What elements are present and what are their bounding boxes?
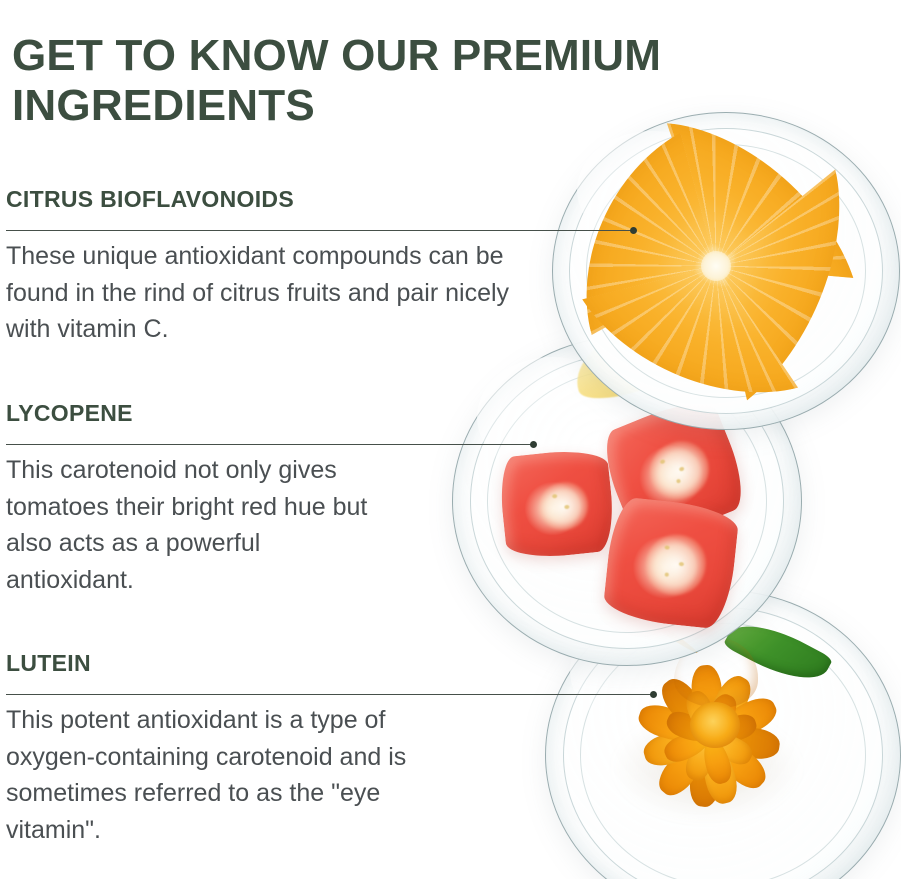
leader-dot-lutein: [650, 691, 657, 698]
tomato-wedge-left: [497, 447, 617, 562]
ingredient-title-lutein: LUTEIN: [6, 650, 470, 677]
ingredient-body-wrap-lycopene: This carotenoid not only gives tomatoes …: [0, 452, 380, 598]
leader-line-citrus: [6, 230, 634, 231]
ingredient-block-lycopene: LYCOPENE: [0, 400, 470, 434]
orange-slice-group: [578, 128, 854, 404]
ingredient-title-lycopene: LYCOPENE: [6, 400, 470, 427]
ingredient-description-lycopene: This carotenoid not only gives tomatoes …: [6, 452, 380, 598]
ingredients-infographic: GET TO KNOW OUR PREMIUM INGREDIENTS CITR…: [0, 0, 901, 879]
page-title: GET TO KNOW OUR PREMIUM INGREDIENTS: [12, 31, 872, 130]
orange-core-pith: [701, 251, 731, 281]
ingredient-body-wrap-citrus: These unique antioxidant compounds can b…: [0, 238, 520, 348]
leader-line-lutein: [6, 694, 654, 695]
ingredient-body-wrap-lutein: This potent antioxidant is a type of oxy…: [0, 702, 450, 848]
leader-line-lycopene: [6, 444, 534, 445]
ingredient-block-citrus: CITRUS BIOFLAVONOIDS: [0, 186, 520, 220]
marigold-core: [690, 702, 740, 748]
tomato-wedge-bottom: [602, 496, 740, 631]
leader-dot-citrus: [630, 227, 637, 234]
leader-dot-lycopene: [530, 441, 537, 448]
ingredient-description-lutein: This potent antioxidant is a type of oxy…: [6, 702, 450, 848]
ingredient-block-lutein: LUTEIN: [0, 650, 470, 684]
ingredient-description-citrus: These unique antioxidant compounds can b…: [6, 238, 520, 348]
ingredient-title-citrus: CITRUS BIOFLAVONOIDS: [6, 186, 520, 213]
